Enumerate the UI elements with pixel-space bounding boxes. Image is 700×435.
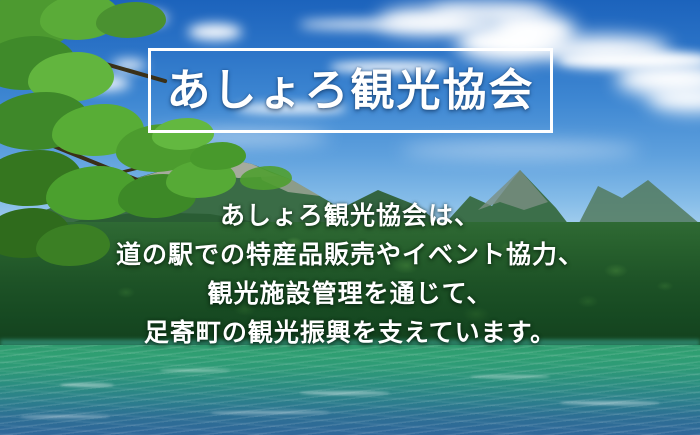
water-glint (210, 411, 330, 414)
water-glint (560, 401, 660, 405)
description-line: 足寄町の観光振興を支えています。 (0, 313, 700, 352)
water-glint (160, 369, 230, 372)
cloud-shape (188, 24, 242, 40)
description-line: あしょろ観光協会は、 (0, 196, 700, 235)
description-block: あしょろ観光協会は、 道の駅での特産品販売やイベント協力、 観光施設管理を通じて… (0, 196, 700, 352)
tourism-association-banner: あしょろ観光協会 あしょろ観光協会は、 道の駅での特産品販売やイベント協力、 観… (0, 0, 700, 435)
description-line: 道の駅での特産品販売やイベント協力、 (0, 235, 700, 274)
description-line: 観光施設管理を通じて、 (0, 274, 700, 313)
page-title: あしょろ観光協会 (167, 69, 535, 113)
title-frame: あしょろ観光協会 (148, 48, 553, 133)
cloud-shape (300, 20, 490, 29)
water-glint (470, 375, 550, 378)
lake-water (0, 345, 700, 435)
water-glint (20, 415, 110, 418)
water-glint (300, 391, 390, 395)
water-ripples (0, 345, 700, 435)
water-glint (60, 383, 114, 387)
